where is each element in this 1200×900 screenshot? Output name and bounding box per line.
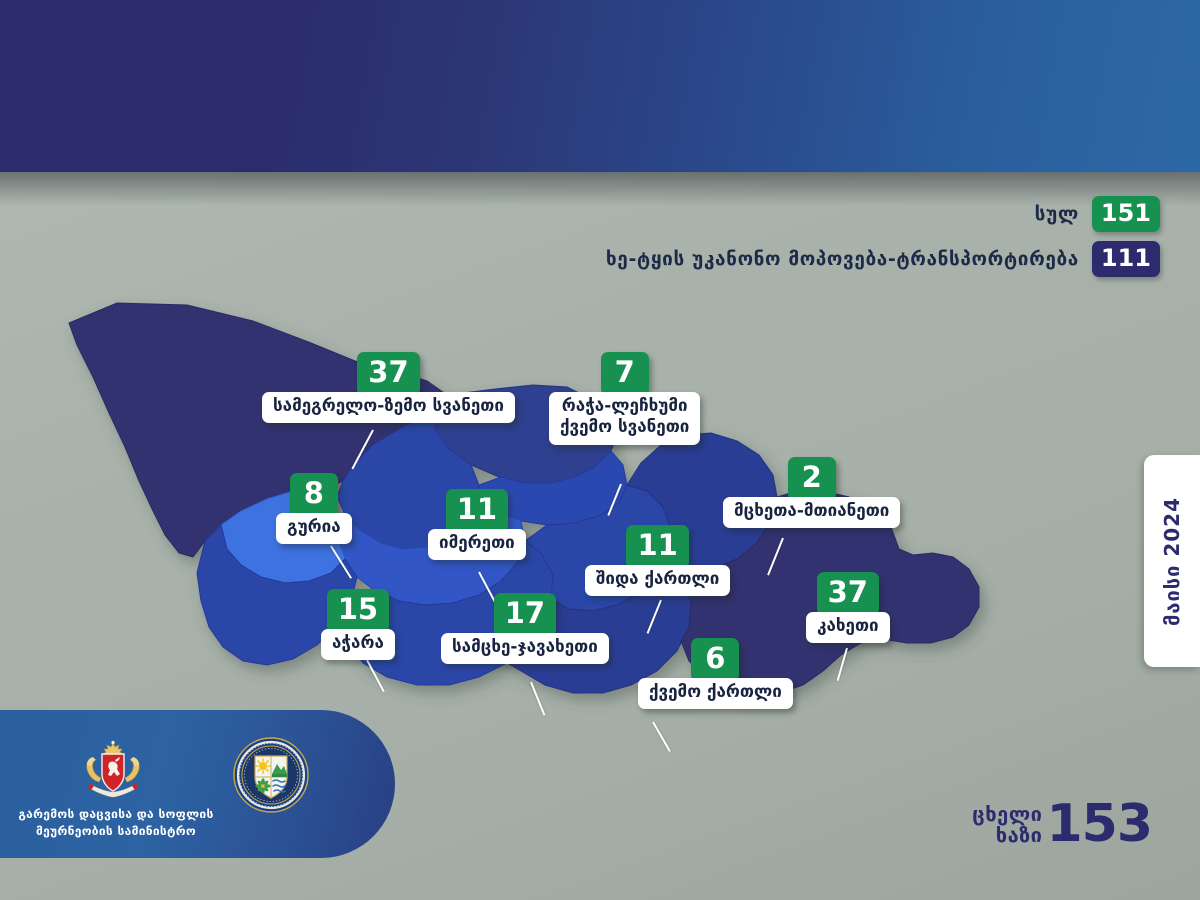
marker-value: 37 [357, 352, 419, 396]
marker-value: 11 [446, 489, 508, 533]
timber-label: ხე-ტყის უკანონო მოპოვება-ტრანსპორტირება [606, 248, 1079, 270]
date-tab: მაისი 2024 [1144, 455, 1200, 667]
ministry-name: გარემოს დაცვისა და სოფლის მეურნეობის სამ… [6, 806, 226, 841]
map-marker-kvemokartli[interactable]: 6 ქვემო ქართლი [638, 638, 793, 709]
marker-label: სამეგრელო-ზემო სვანეთი [262, 392, 515, 423]
marker-label: კახეთი [806, 612, 890, 643]
georgian-coat-of-arms-icon [80, 740, 146, 802]
map-marker-kakheti[interactable]: 37 კახეთი [806, 572, 890, 643]
marker-value: 11 [626, 525, 688, 569]
footer-bar: გარემოს დაცვისა და სოფლის მეურნეობის სამ… [0, 710, 395, 858]
marker-value: 15 [327, 589, 389, 633]
marker-value: 7 [601, 352, 649, 396]
timber-value-badge: 111 [1092, 241, 1160, 277]
marker-value: 37 [817, 572, 879, 616]
summary-stats: სულ 151 ხე-ტყის უკანონო მოპოვება-ტრანსპო… [606, 196, 1160, 286]
marker-label: ქვემო ქართლი [638, 678, 793, 709]
hotline-label: ცხელი ხაზი [972, 804, 1042, 846]
stat-row-total: სულ 151 [606, 196, 1160, 232]
marker-label: სამცხე-ჯავახეთი [441, 633, 609, 664]
marker-label: იმერეთი [428, 529, 526, 560]
marker-value: 8 [290, 473, 338, 517]
poster-root: უკანონო ტყითსარგებლობის სტატისტიკა სულ 1… [0, 0, 1200, 900]
map-marker-samegrelo[interactable]: 37 სამეგრელო-ზემო სვანეთი [262, 352, 515, 423]
marker-value: 6 [691, 638, 739, 682]
marker-label: მცხეთა-მთიანეთი [723, 497, 900, 528]
stat-row-timber: ხე-ტყის უკანონო მოპოვება-ტრანსპორტირება … [606, 241, 1160, 277]
ministry-seal-icon [232, 736, 310, 814]
map-marker-samtskhe[interactable]: 17 სამცხე-ჯავახეთი [441, 593, 609, 664]
map-marker-mtskheta[interactable]: 2 მცხეთა-მთიანეთი [723, 457, 900, 528]
header-band [0, 0, 1200, 172]
marker-label: შიდა ქართლი [585, 565, 730, 596]
map-marker-shidakartli[interactable]: 11 შიდა ქართლი [585, 525, 730, 596]
marker-label: გურია [276, 513, 352, 544]
hotline-label-line1: ცხელი [972, 804, 1042, 825]
map-marker-imereti[interactable]: 11 იმერეთი [428, 489, 526, 560]
hotline: ცხელი ხაზი 153 [972, 802, 1152, 848]
total-value-badge: 151 [1092, 196, 1160, 232]
marker-label: რაჭა-ლეჩხუმი ქვემო სვანეთი [549, 392, 700, 445]
marker-value: 2 [788, 457, 836, 501]
total-label: სულ [1035, 203, 1079, 225]
map-marker-guria[interactable]: 8 გურია [276, 473, 352, 544]
marker-label: აჭარა [321, 629, 395, 660]
footer-inner: გარემოს დაცვისა და სოფლის მეურნეობის სამ… [0, 710, 395, 858]
marker-value: 17 [494, 593, 556, 637]
hotline-label-line2: ხაზი [972, 825, 1042, 846]
map-marker-adjara[interactable]: 15 აჭარა [321, 589, 395, 660]
map-marker-racha[interactable]: 7 რაჭა-ლეჩხუმი ქვემო სვანეთი [549, 352, 700, 445]
hotline-number: 153 [1046, 802, 1152, 848]
date-tab-label: მაისი 2024 [1160, 497, 1184, 626]
